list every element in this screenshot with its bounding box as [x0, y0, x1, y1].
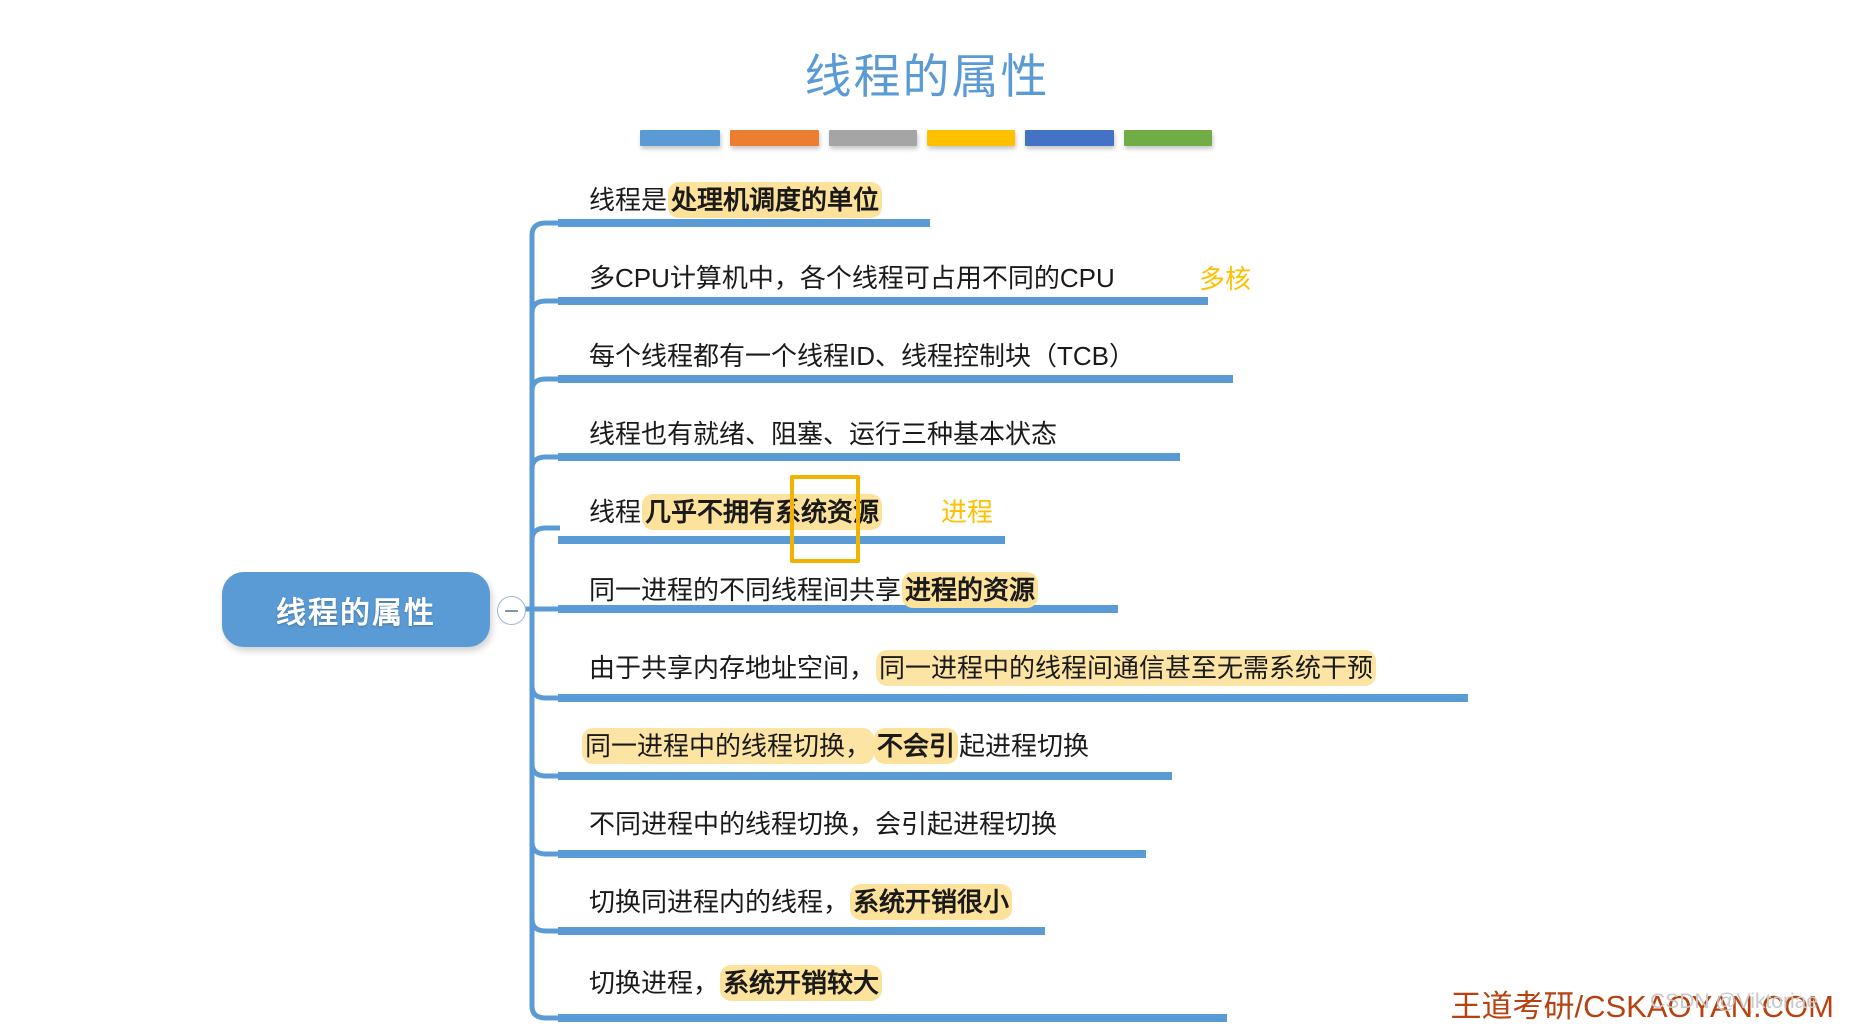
- branch-10-seg-0: 切换同进程内的线程，: [588, 885, 850, 919]
- branch-row-3[interactable]: 每个线程都有一个线程ID、线程控制块（TCB）: [588, 336, 1136, 373]
- branch-2-annotation: 多核: [1199, 259, 1251, 296]
- mindmap-root-node[interactable]: 线程的属性: [222, 572, 490, 647]
- minus-glyph: [505, 610, 518, 612]
- branch-row-2[interactable]: 多CPU计算机中，各个线程可占用不同的CPU: [588, 258, 1116, 295]
- mindmap-connector-tree: [0, 0, 1854, 1036]
- branch-11-seg-0: 切换进程，: [588, 966, 720, 1000]
- branch-row-9[interactable]: 不同进程中的线程切换，会引起进程切换: [588, 804, 1058, 841]
- minus-circle-icon[interactable]: [497, 596, 526, 625]
- branch-row-6[interactable]: 同一进程的不同线程间共享进程的资源: [588, 570, 1038, 607]
- branch-6-seg-1: 进程的资源: [902, 572, 1038, 608]
- branch-row-1[interactable]: 线程是处理机调度的单位: [588, 180, 882, 217]
- branch-2-seg-0: 多CPU计算机中，各个线程可占用不同的CPU: [588, 261, 1116, 295]
- branch-7-seg-1: 同一进程中的线程间通信甚至无需系统干预: [876, 650, 1376, 686]
- slide-canvas: 线程的属性: [0, 0, 1854, 1036]
- branch-4-seg-0: 线程也有就绪、阻塞、运行三种基本状态: [588, 417, 1058, 451]
- branch-3-seg-0: 每个线程都有一个线程ID、线程控制块（TCB）: [588, 339, 1136, 373]
- branch-row-8[interactable]: 同一进程中的线程切换，不会引起进程切换: [582, 726, 1090, 763]
- root-node-label: 线程的属性: [276, 588, 436, 632]
- branch-row-10[interactable]: 切换同进程内的线程，系统开销很小: [588, 882, 1012, 919]
- branch-8-seg-0: 同一进程中的线程切换，: [582, 728, 874, 764]
- branch-1-seg-0: 线程是: [588, 183, 668, 217]
- branch-11-seg-1: 系统开销较大: [720, 965, 882, 1001]
- branch-8-seg-1: 不会引: [874, 728, 958, 764]
- branch-row-7[interactable]: 由于共享内存地址空间，同一进程中的线程间通信甚至无需系统干预: [588, 648, 1376, 685]
- branch-1-seg-1: 处理机调度的单位: [668, 182, 882, 218]
- branch-9-seg-0: 不同进程中的线程切换，会引起进程切换: [588, 807, 1058, 841]
- branch-10-seg-1: 系统开销很小: [850, 884, 1012, 920]
- branch-7-seg-0: 由于共享内存地址空间，: [588, 651, 876, 685]
- brand-watermark: 王道考研/CSKAOYAN.COM: [1450, 981, 1834, 1026]
- branch-5-seg-0: 线程: [588, 495, 642, 529]
- marker-rectangle-annotation: [790, 475, 860, 563]
- branch-row-4[interactable]: 线程也有就绪、阻塞、运行三种基本状态: [588, 414, 1058, 451]
- branch-5-annotation: 进程: [941, 492, 993, 529]
- branch-8-seg-2: 起进程切换: [958, 729, 1090, 763]
- branch-6-seg-0: 同一进程的不同线程间共享: [588, 573, 902, 607]
- branch-row-11[interactable]: 切换进程，系统开销较大: [588, 963, 882, 1000]
